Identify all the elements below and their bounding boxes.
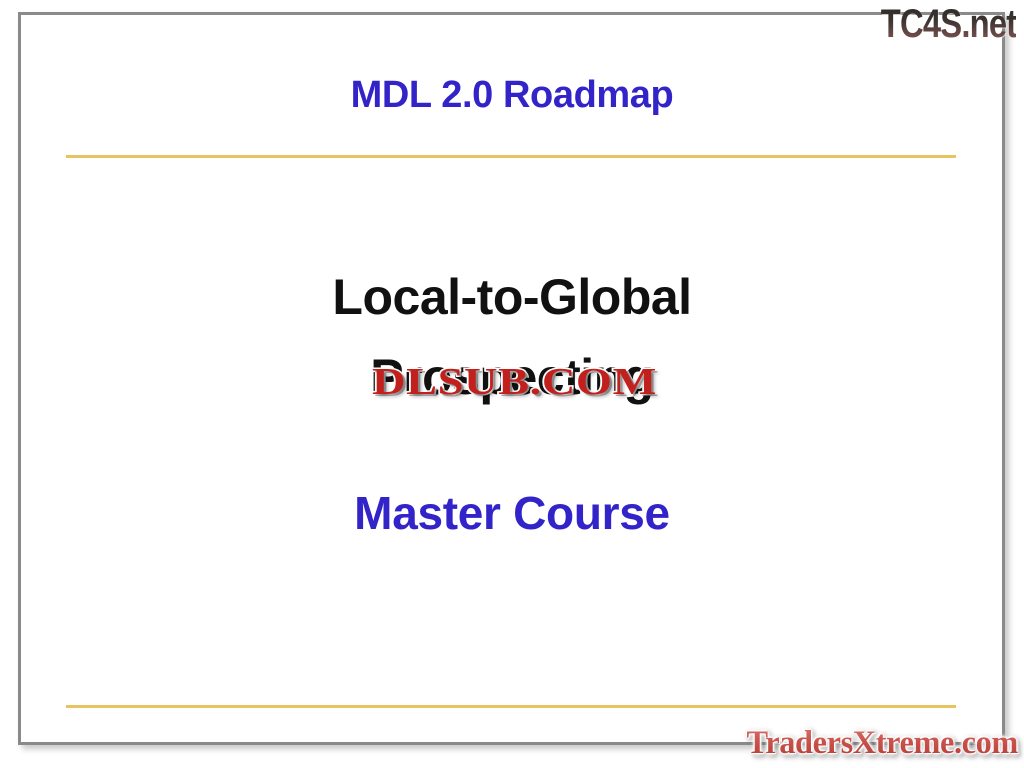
watermark-dlsub: DLSUB.COM (372, 360, 657, 404)
page-title: MDL 2.0 Roadmap (0, 74, 1024, 117)
divider-top (66, 155, 956, 158)
body-line-local-to-global: Local-to-Global (0, 268, 1024, 326)
watermark-tradersxtreme: TradersXtreme.com (747, 725, 1018, 762)
body-line-master-course: Master Course (0, 486, 1024, 540)
slide-root: MDL 2.0 Roadmap Local-to-Global Prospect… (0, 0, 1024, 768)
watermark-tc4s: TC4S.net (880, 2, 1016, 47)
divider-bottom (66, 705, 956, 708)
